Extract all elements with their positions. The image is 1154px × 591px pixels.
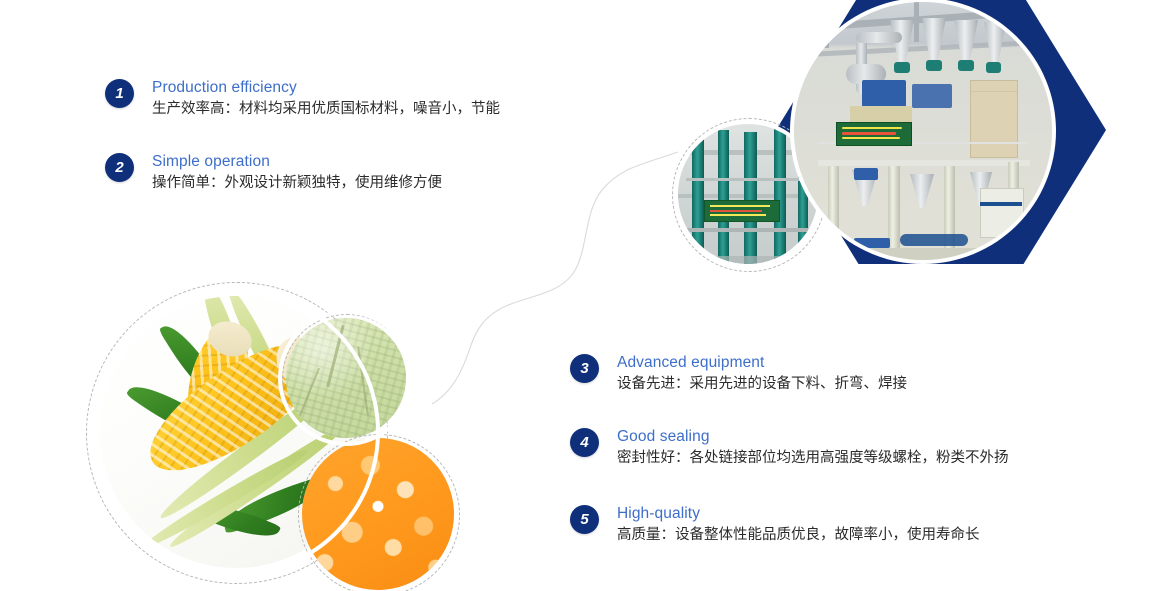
feature-text-5: High-quality 高质量：设备整体性能品质优良，故障率小，使用寿命长	[617, 504, 980, 545]
feature-title-1: Production efficiency	[152, 78, 500, 97]
feature-infographic: 1 Production efficiency 生产效率高：材料均采用优质国标材…	[0, 0, 1154, 591]
feature-desc-3: 设备先进：采用先进的设备下料、折弯、焊接	[617, 374, 907, 394]
feature-desc-2: 操作简单：外观设计新颖独特，使用维修方便	[152, 173, 442, 193]
feature-text-4: Good sealing 密封性好：各处链接部位均选用高强度等级螺栓，粉类不外扬	[617, 427, 1009, 468]
feature-text-2: Simple operation 操作简单：外观设计新颖独特，使用维修方便	[152, 152, 442, 193]
feature-title-3: Advanced equipment	[617, 353, 907, 372]
feature-badge-1: 1	[105, 79, 134, 108]
feature-desc-4: 密封性好：各处链接部位均选用高强度等级螺栓，粉类不外扬	[617, 448, 1009, 468]
feature-item-3[interactable]: 3 Advanced equipment 设备先进：采用先进的设备下料、折弯、焊…	[570, 353, 907, 394]
feature-badge-3: 3	[570, 354, 599, 383]
feature-item-2[interactable]: 2 Simple operation 操作简单：外观设计新颖独特，使用维修方便	[105, 152, 442, 193]
feature-text-1: Production efficiency 生产效率高：材料均采用优质国标材料，…	[152, 78, 500, 119]
feature-title-4: Good sealing	[617, 427, 1009, 446]
overlap-notch-grits	[282, 314, 410, 442]
factory-media-group	[660, 0, 1154, 272]
factory-photo	[794, 2, 1052, 260]
feature-badge-2: 2	[105, 153, 134, 182]
feature-item-4[interactable]: 4 Good sealing 密封性好：各处链接部位均选用高强度等级螺栓，粉类不…	[570, 427, 1009, 468]
feature-item-5[interactable]: 5 High-quality 高质量：设备整体性能品质优良，故障率小，使用寿命长	[570, 504, 980, 545]
feature-desc-5: 高质量：设备整体性能品质优良，故障率小，使用寿命长	[617, 525, 980, 545]
feature-text-3: Advanced equipment 设备先进：采用先进的设备下料、折弯、焊接	[617, 353, 907, 394]
feature-badge-4: 4	[570, 428, 599, 457]
corn-media-group	[86, 282, 496, 591]
feature-title-2: Simple operation	[152, 152, 442, 171]
feature-desc-1: 生产效率高：材料均采用优质国标材料，噪音小，节能	[152, 99, 500, 119]
feature-title-5: High-quality	[617, 504, 980, 523]
feature-badge-5: 5	[570, 505, 599, 534]
feature-item-1[interactable]: 1 Production efficiency 生产效率高：材料均采用优质国标材…	[105, 78, 500, 119]
